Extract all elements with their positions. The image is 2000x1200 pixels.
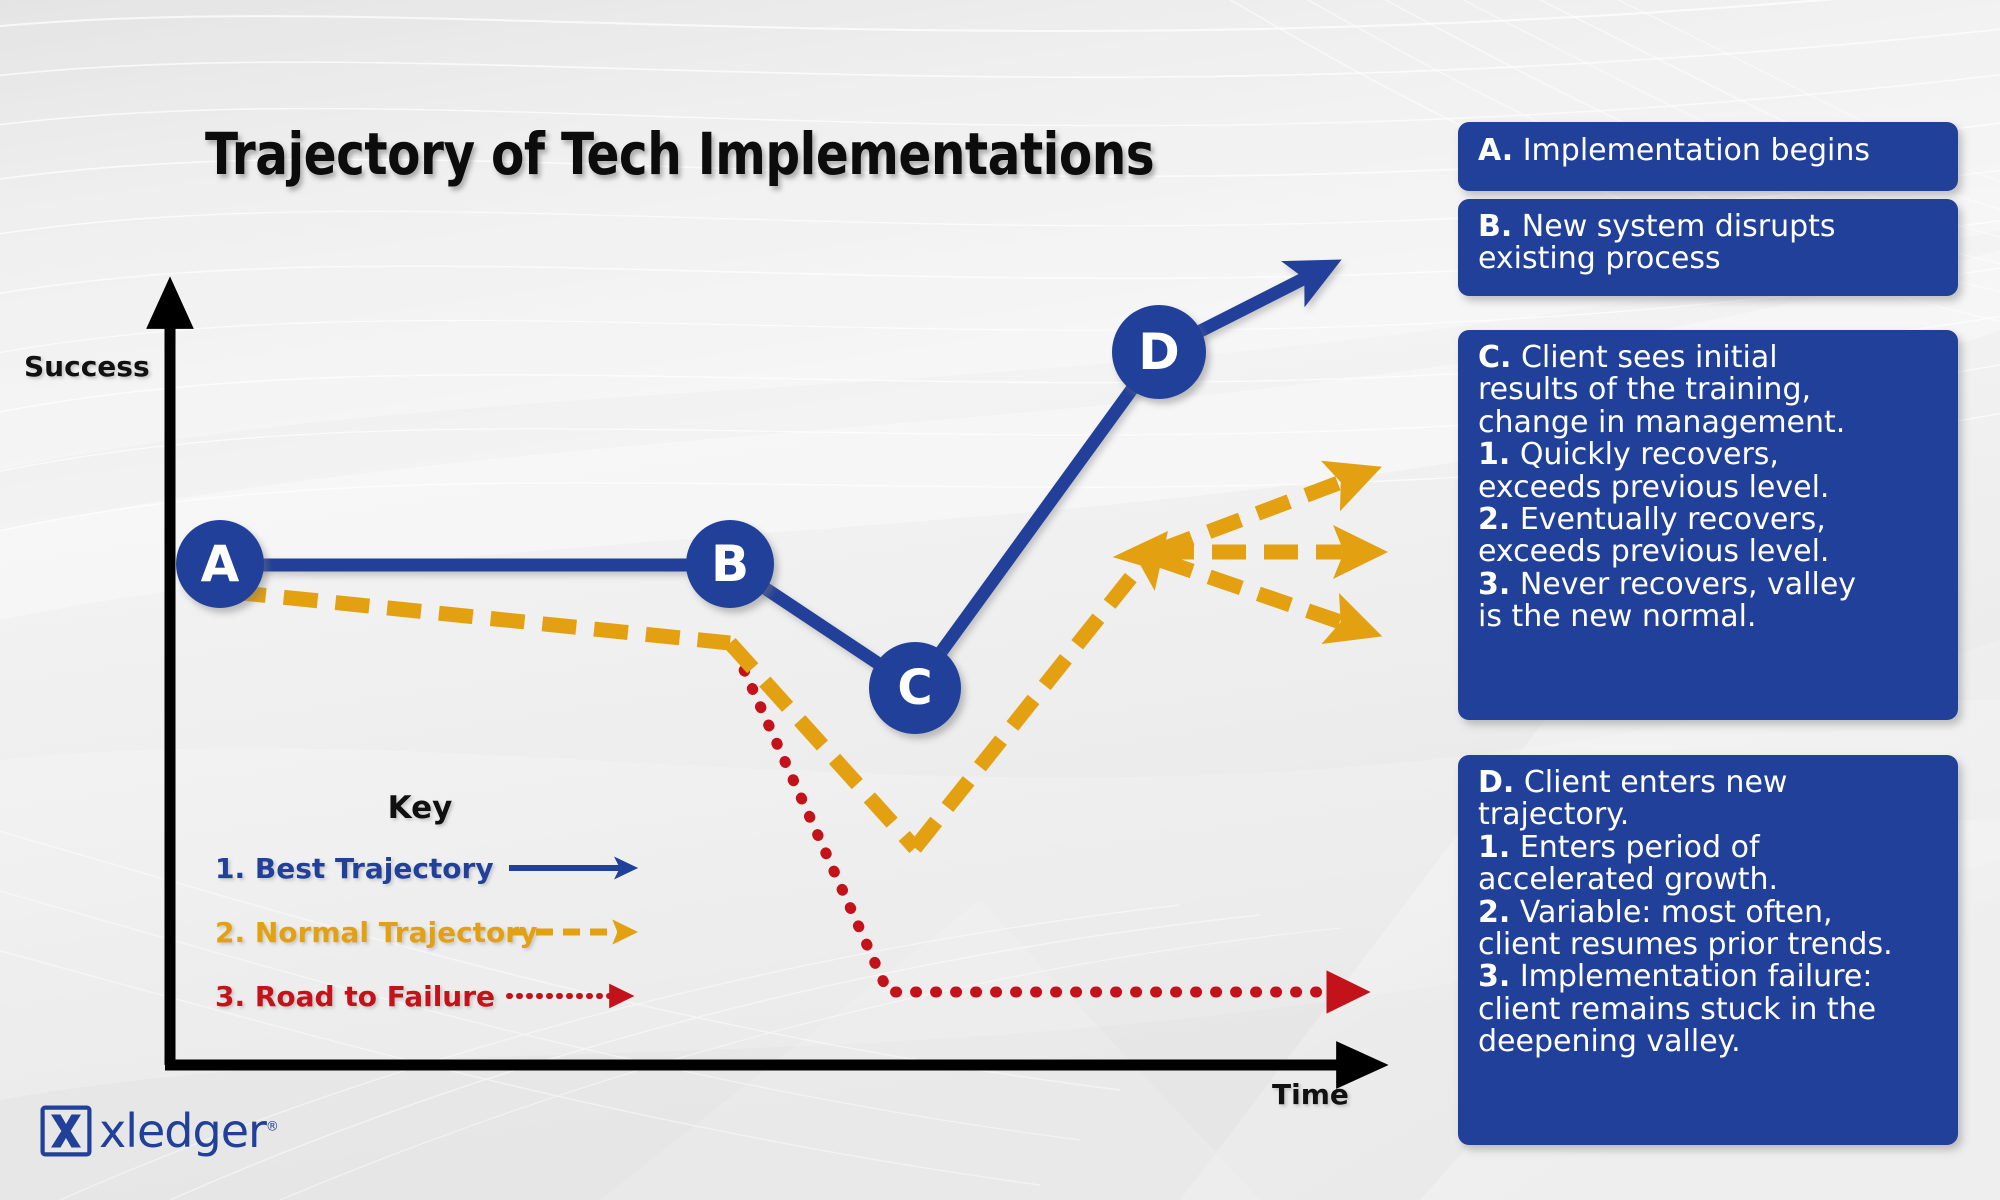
callout-text: exceeds previous level.: [1478, 470, 1829, 505]
node-b[interactable]: B: [686, 520, 774, 608]
callout-line: C. Client sees initial: [1478, 342, 1940, 374]
xledger-wordmark: xledger®: [99, 1108, 278, 1154]
callout-text: Quickly recovers,: [1510, 437, 1779, 472]
callout-line: 3. Implementation failure:: [1478, 961, 1940, 993]
callout-line: trajectory.: [1478, 799, 1940, 831]
callout-marker: 2.: [1478, 895, 1510, 930]
key-item-label: 3. Road to Failure: [215, 980, 505, 1013]
series-road-to-failure: [736, 652, 1340, 992]
xledger-logo[interactable]: xledger®: [40, 1105, 278, 1157]
callout-text: exceeds previous level.: [1478, 534, 1829, 569]
callout-marker: 3.: [1478, 959, 1510, 994]
callout-text: Client sees initial: [1511, 340, 1777, 375]
y-axis-label: Success: [24, 350, 150, 383]
callout-marker: C.: [1478, 340, 1511, 375]
callout-line: 1. Enters period of: [1478, 832, 1940, 864]
key-swatch-solid-arrow-icon: [505, 851, 650, 885]
callout-text: accelerated growth.: [1478, 862, 1778, 897]
callout-line: exceeds previous level.: [1478, 472, 1940, 504]
callout-marker: B.: [1478, 209, 1512, 244]
key-item-normal-trajectory[interactable]: 2. Normal Trajectory: [215, 910, 650, 954]
key-legend: Key 1. Best Trajectory 2. Normal Traject…: [215, 790, 650, 1018]
callout-line: client resumes prior trends.: [1478, 929, 1940, 961]
x-axis-label: Time: [1272, 1078, 1349, 1111]
key-swatch-dotted-arrow-icon: [505, 979, 650, 1013]
callout-panel-a[interactable]: A. Implementation begins: [1458, 122, 1958, 191]
callout-text: Implementation failure:: [1510, 959, 1872, 994]
callout-text: existing process: [1478, 241, 1721, 276]
callout-text: change in management.: [1478, 405, 1845, 440]
callout-line: B. New system disrupts: [1478, 211, 1940, 243]
callout-line: change in management.: [1478, 407, 1940, 439]
callout-text: Variable: most often,: [1510, 895, 1832, 930]
callout-panel-d[interactable]: D. Client enters new trajectory. 1. Ente…: [1458, 755, 1958, 1145]
callout-text: results of the training,: [1478, 372, 1811, 407]
callout-text: deepening valley.: [1478, 1024, 1741, 1059]
callout-line: A. Implementation begins: [1478, 135, 1940, 167]
callout-line: deepening valley.: [1478, 1026, 1940, 1058]
node-d[interactable]: D: [1112, 305, 1206, 399]
callout-text: trajectory.: [1478, 797, 1629, 832]
callout-line: existing process: [1478, 243, 1940, 275]
callout-line: results of the training,: [1478, 374, 1940, 406]
callout-line: 2. Eventually recovers,: [1478, 504, 1940, 536]
callout-line: client remains stuck in the: [1478, 994, 1940, 1026]
callout-line: 3. Never recovers, valley: [1478, 569, 1940, 601]
key-item-label: 1. Best Trajectory: [215, 852, 505, 885]
callout-marker: D.: [1478, 765, 1514, 800]
callout-text: Enters period of: [1510, 830, 1759, 865]
callout-panel-b[interactable]: B. New system disrupts existing process: [1458, 199, 1958, 296]
callout-line: exceeds previous level.: [1478, 536, 1940, 568]
key-item-road-to-failure[interactable]: 3. Road to Failure: [215, 974, 650, 1018]
callout-text: is the new normal.: [1478, 599, 1756, 634]
callout-marker: A.: [1478, 133, 1513, 168]
callout-text: client remains stuck in the: [1478, 992, 1876, 1027]
callout-panel-c[interactable]: C. Client sees initial results of the tr…: [1458, 330, 1958, 720]
callout-text: Implementation begins: [1513, 133, 1870, 168]
callout-marker: 3.: [1478, 567, 1510, 602]
callout-text: Client enters new: [1514, 765, 1787, 800]
callout-text: New system disrupts: [1512, 209, 1835, 244]
callout-line: is the new normal.: [1478, 601, 1940, 633]
callout-line: D. Client enters new: [1478, 767, 1940, 799]
callout-text: client resumes prior trends.: [1478, 927, 1893, 962]
registered-mark: ®: [266, 1120, 278, 1135]
page-title: Trajectory of Tech Implementations: [205, 120, 1154, 188]
key-title: Key: [305, 790, 535, 826]
key-item-best-trajectory[interactable]: 1. Best Trajectory: [215, 846, 650, 890]
xledger-mark-icon: [40, 1105, 92, 1157]
key-swatch-dashed-arrow-icon: [505, 915, 650, 949]
callout-line: 1. Quickly recovers,: [1478, 439, 1940, 471]
callout-marker: 2.: [1478, 502, 1510, 537]
callout-text: Eventually recovers,: [1510, 502, 1826, 537]
callout-marker: 1.: [1478, 437, 1510, 472]
node-c[interactable]: C: [869, 642, 961, 734]
key-item-label: 2. Normal Trajectory: [215, 916, 505, 949]
callout-line: 2. Variable: most often,: [1478, 897, 1940, 929]
callout-line: accelerated growth.: [1478, 864, 1940, 896]
node-a[interactable]: A: [176, 520, 264, 608]
callout-marker: 1.: [1478, 830, 1510, 865]
callout-text: Never recovers, valley: [1510, 567, 1856, 602]
